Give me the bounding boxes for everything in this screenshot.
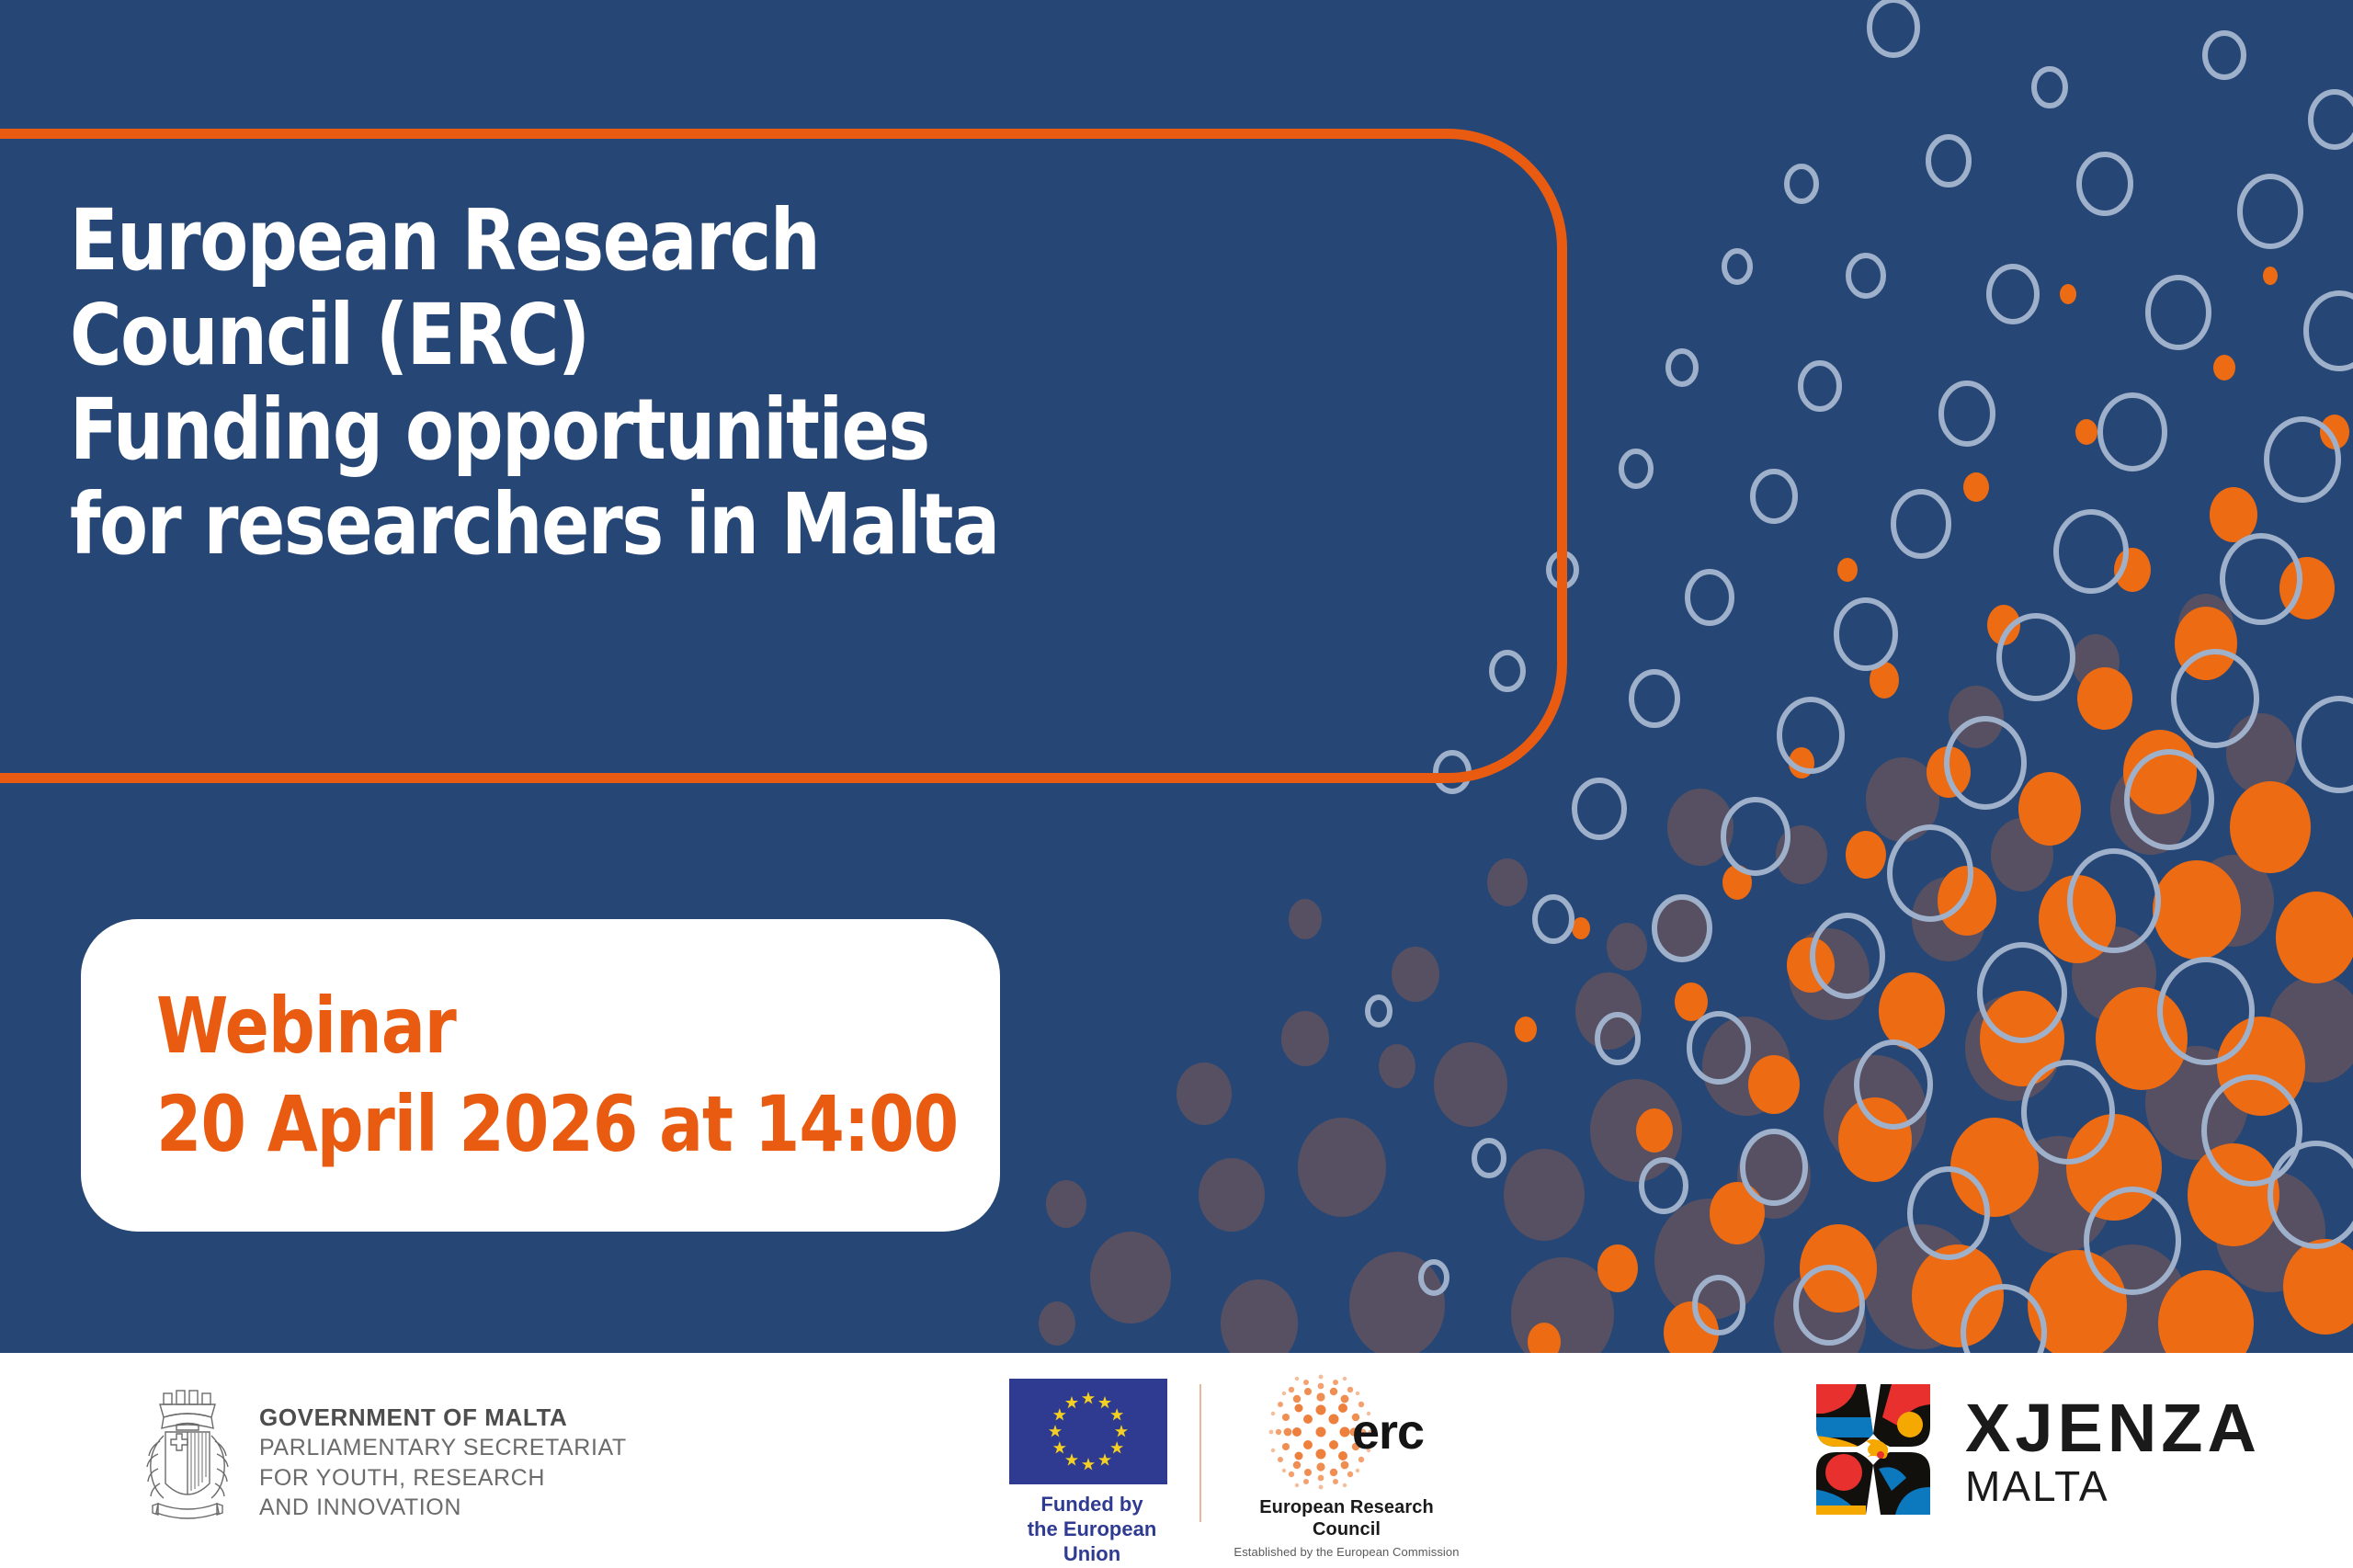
eu-funding-caption: Funded by the European Union: [1009, 1493, 1175, 1566]
xjenza-butterfly-icon: [1813, 1381, 1934, 1518]
footer-logo-bar: GOVERNMENT OF MALTA PARLIAMENTARY SECRET…: [0, 1353, 2353, 1568]
webinar-info-card: Webinar 20 April 2026 at 14:00: [81, 919, 1000, 1232]
government-of-malta-logo: GOVERNMENT OF MALTA PARLIAMENTARY SECRET…: [136, 1388, 627, 1528]
government-subtitle: PARLIAMENTARY SECRETARIAT FOR YOUTH, RES…: [259, 1433, 627, 1523]
poster-canvas: European Research Council (ERC) Funding …: [0, 0, 2353, 1568]
erc-dot-logo-icon: erc: [1264, 1373, 1429, 1491]
xjenza-country-label: MALTA: [1965, 1464, 2261, 1508]
xjenza-malta-logo: XJENZA MALTA: [1813, 1381, 2261, 1518]
erc-established-note: Established by the European Commission: [1232, 1545, 1461, 1559]
xjenza-wordmark: XJENZA: [1965, 1395, 2261, 1460]
footer-divider: [1199, 1384, 1201, 1522]
svg-text:erc: erc: [1352, 1404, 1424, 1460]
government-title: GOVERNMENT OF MALTA: [259, 1403, 627, 1433]
page-title: European Research Council (ERC) Funding …: [70, 193, 1199, 572]
malta-coat-of-arms-icon: [136, 1388, 239, 1528]
eu-flag-icon: [1009, 1379, 1167, 1484]
webinar-label: Webinar: [156, 985, 949, 1067]
erc-logo: erc European Research Council Establishe…: [1232, 1373, 1461, 1559]
european-union-logo: Funded by the European Union: [1009, 1379, 1175, 1566]
erc-full-name: European Research Council: [1232, 1496, 1461, 1540]
webinar-datetime: 20 April 2026 at 14:00: [156, 1084, 949, 1165]
